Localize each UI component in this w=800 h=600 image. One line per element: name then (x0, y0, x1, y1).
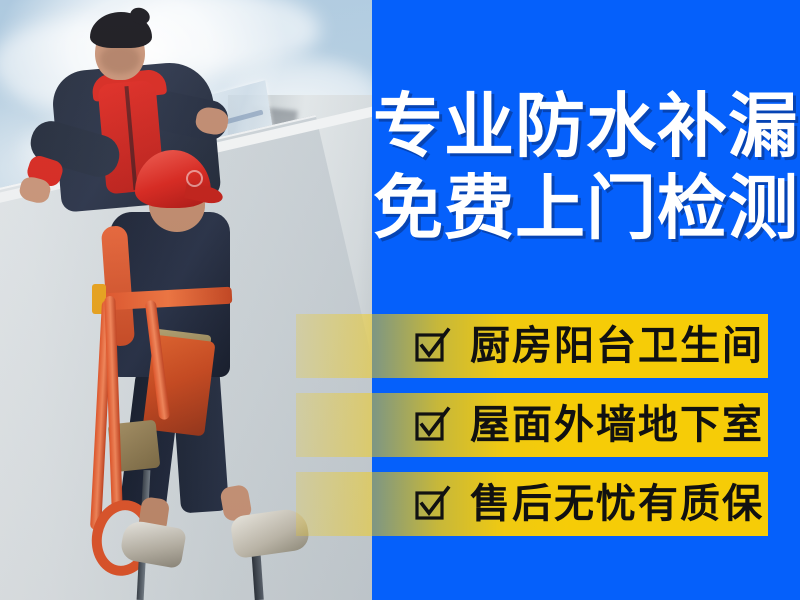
headline-block: 专业防水补漏 免费上门检测 (372, 90, 800, 244)
feature-label-1: 厨房阳台卫生间 (470, 326, 764, 366)
headline-line-1: 专业防水补漏 (372, 90, 800, 162)
feature-item-3[interactable]: 售后无忧有质保 (296, 472, 768, 536)
checkbox-checked-icon (414, 329, 448, 363)
feature-item-2[interactable]: 屋面外墙地下室 (296, 393, 768, 457)
headline-line-2: 免费上门检测 (372, 172, 800, 244)
helmet-vent-icon (186, 170, 203, 187)
checkbox-checked-icon (414, 487, 448, 521)
checkbox-checked-icon (414, 408, 448, 442)
feature-label-2: 屋面外墙地下室 (470, 405, 764, 445)
advertisement-poster: 专业防水补漏 免费上门检测 厨房阳台卫生间 屋面外墙地下室 (0, 0, 800, 600)
upper-worker-face-shadow (100, 44, 140, 74)
feature-label-3: 售后无忧有质保 (470, 484, 764, 524)
feature-item-1[interactable]: 厨房阳台卫生间 (296, 314, 768, 378)
